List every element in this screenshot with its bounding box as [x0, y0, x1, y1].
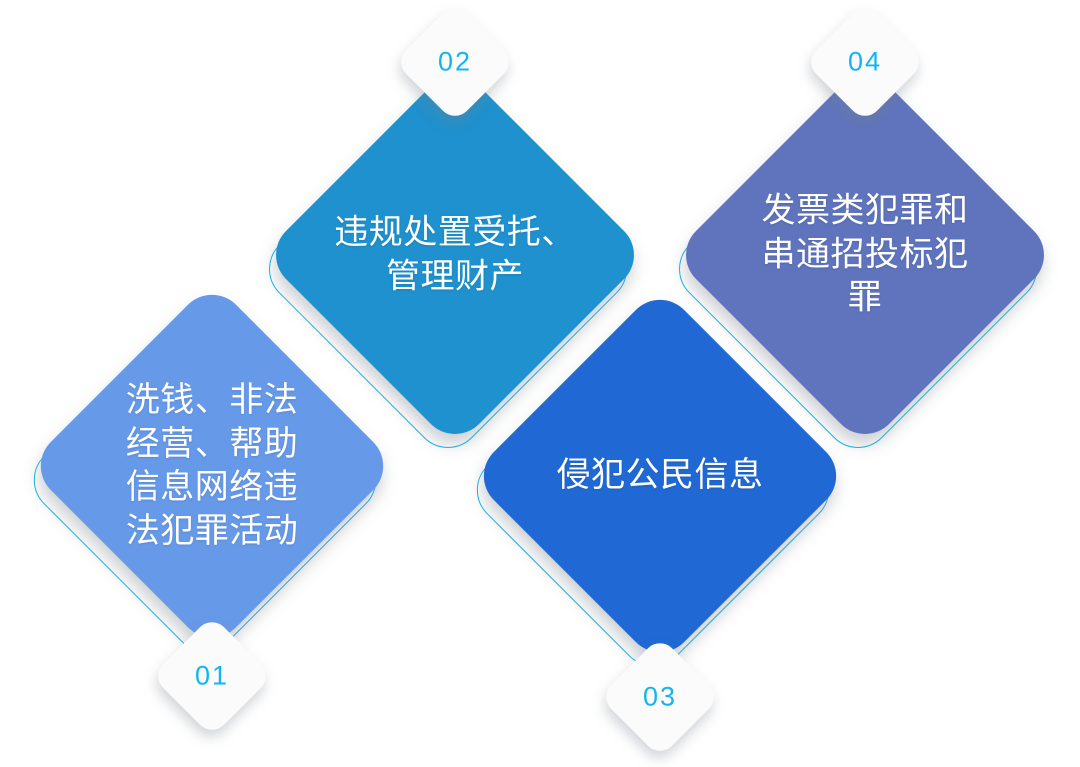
badge-number-text-04: 04 [848, 49, 882, 76]
diagram-canvas: 洗钱、非法 经营、帮助 信息网络违 法犯罪活动01违规处置受托、 管理财产02侵… [0, 0, 1080, 767]
number-badge-03[interactable]: 03 [599, 636, 721, 758]
badge-number-text-02: 02 [438, 49, 472, 76]
badge-number-text-03: 03 [643, 684, 677, 711]
number-badge-01[interactable]: 01 [151, 615, 273, 737]
badge-number-text-01: 01 [195, 663, 229, 690]
